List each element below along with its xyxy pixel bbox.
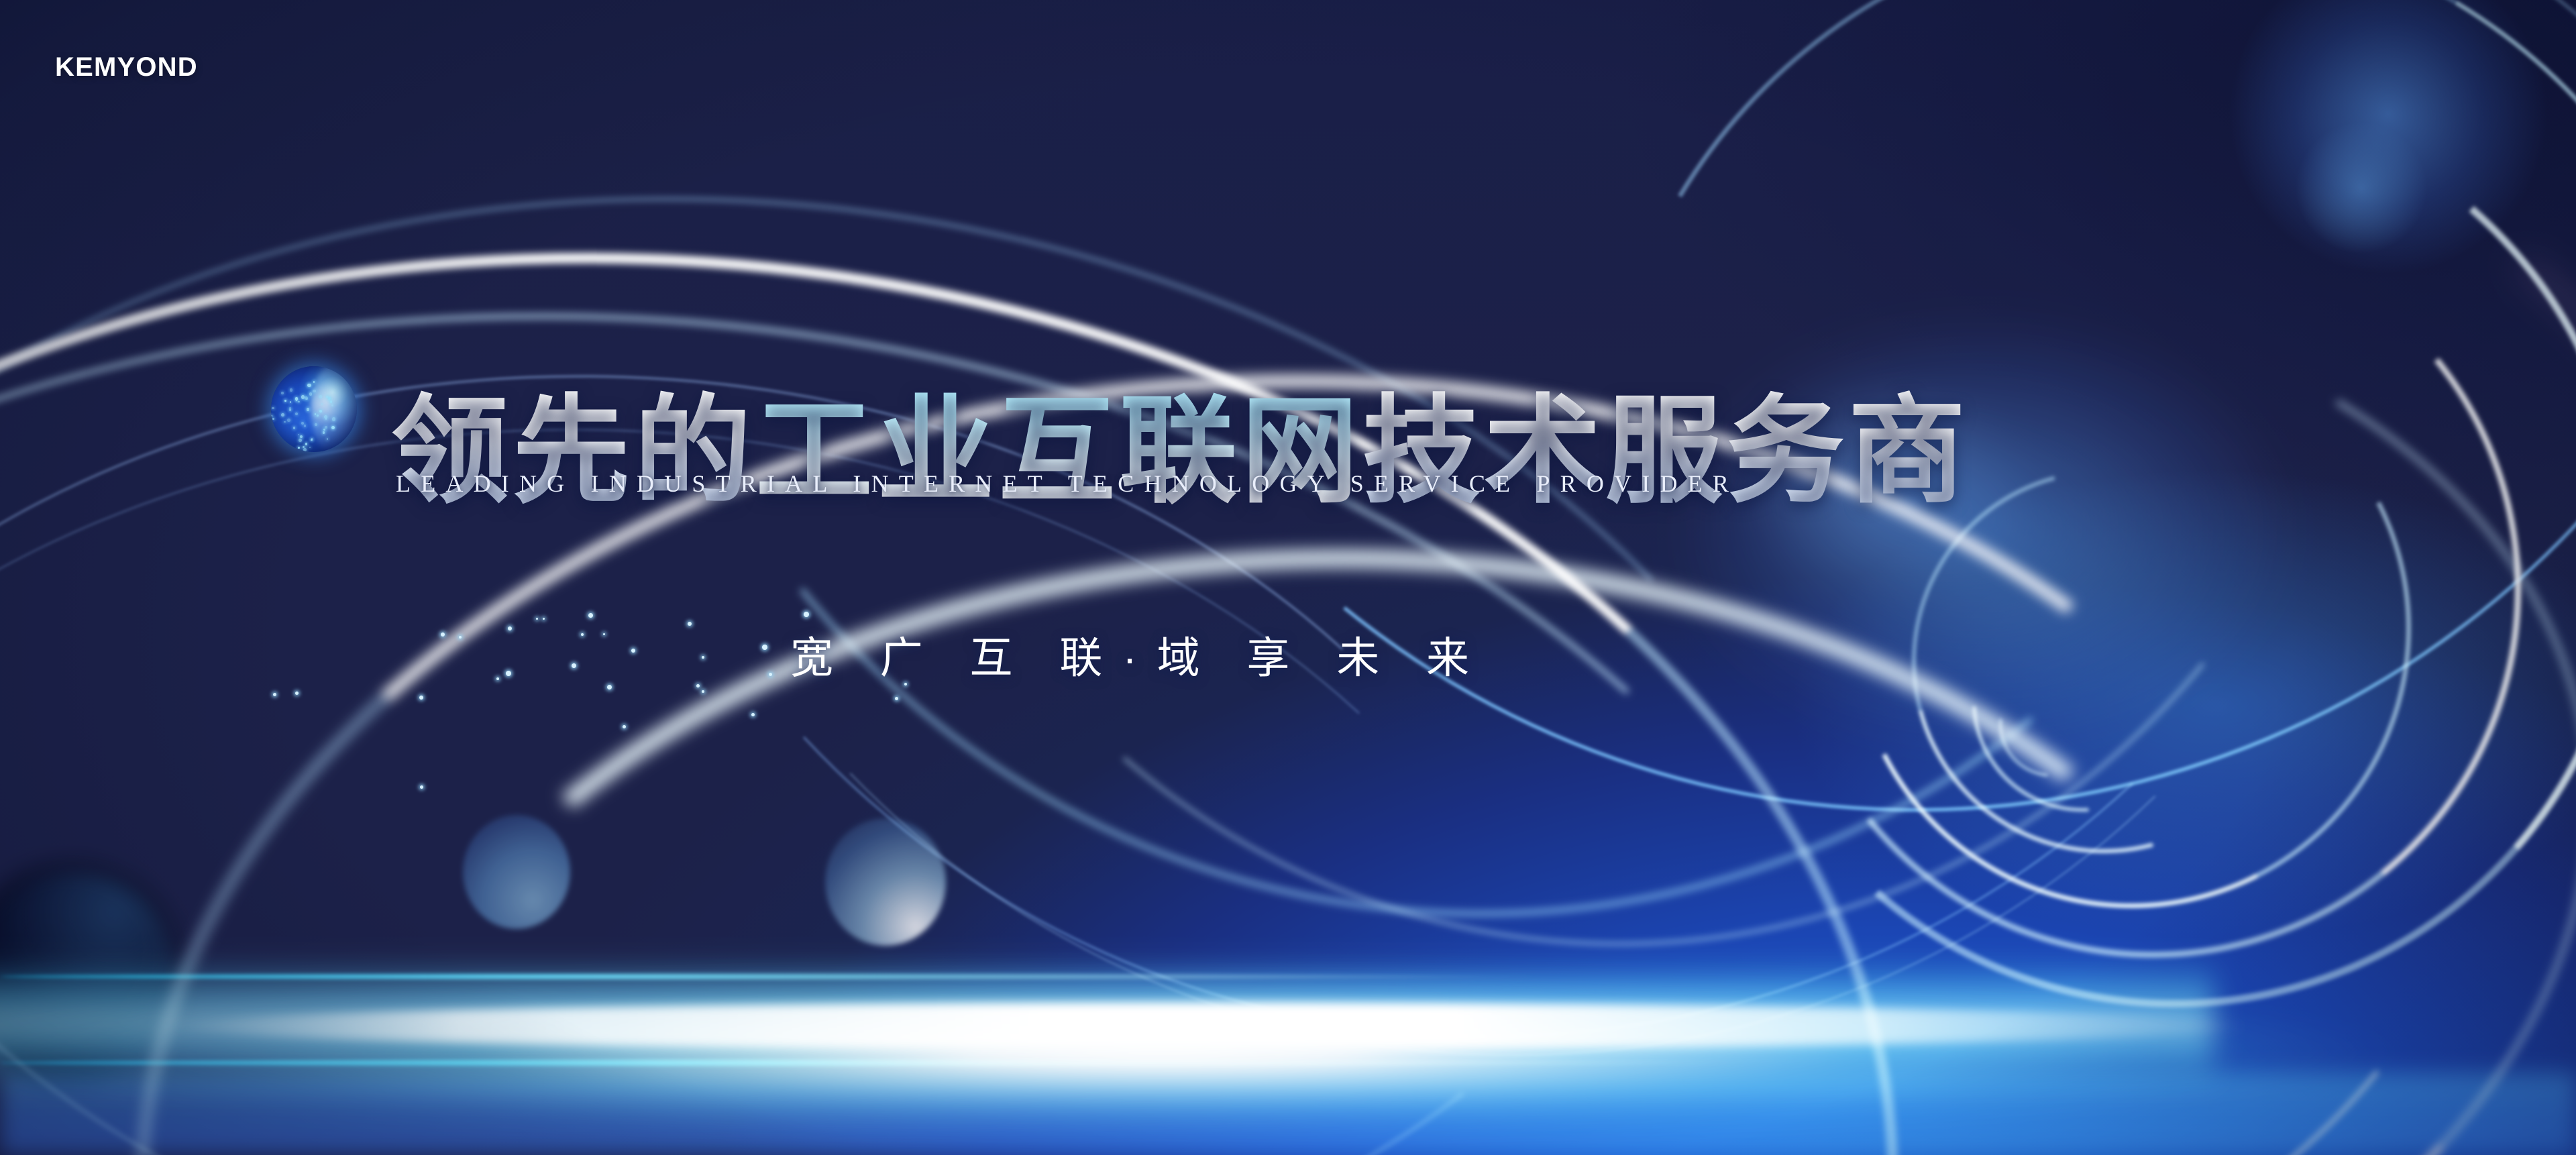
- globe-texture-dot: [309, 392, 312, 395]
- banner-canvas: KEMYOND 领先的工业互联网技术服务商 LEADING INDUSTRIAL…: [0, 0, 2576, 1155]
- globe-texture-dot: [298, 401, 299, 402]
- headline-segment-1: 领先的: [391, 356, 755, 526]
- globe-texture-dot: [289, 409, 291, 411]
- globe-texture-dot: [307, 408, 309, 410]
- globe-texture-dot: [272, 407, 274, 409]
- globe-texture-dot: [287, 419, 290, 422]
- globe-texture-dot: [325, 426, 327, 429]
- globe-texture-dot: [290, 401, 292, 403]
- globe-texture-dot: [281, 392, 284, 394]
- globe-texture-dot: [272, 418, 274, 420]
- globe-texture-dot: [290, 388, 293, 392]
- globe-texture-dot: [298, 447, 300, 449]
- globe-texture-dot: [300, 435, 303, 438]
- globe-texture-dot: [315, 423, 317, 426]
- headline-segment-2: 工业互联网: [755, 356, 1362, 526]
- horizontal-light-beam: [0, 1060, 1744, 1066]
- globe-texture-dot: [305, 443, 308, 445]
- globe-rim: [271, 366, 357, 452]
- globe-texture-dot: [304, 425, 307, 427]
- tagline-right: 域 享 未 来: [1157, 634, 1487, 682]
- tagline-left: 宽 广 互 联: [790, 634, 1120, 682]
- globe-sphere-icon: [271, 366, 357, 452]
- globe-texture-dot: [330, 400, 332, 402]
- globe-texture-dot: [315, 413, 317, 415]
- globe-texture-dot: [303, 448, 307, 451]
- globe-texture-dot: [317, 415, 318, 416]
- subtitle-english: LEADING INDUSTRIAL INTERNET TECHNOLOGY S…: [396, 470, 2207, 498]
- globe-texture-dot: [325, 418, 327, 420]
- horizontal-light-beam: [168, 1003, 2247, 1050]
- brand-logo[interactable]: KEMYOND: [55, 52, 198, 82]
- globe-texture-dot: [319, 410, 322, 412]
- globe-texture-dot: [281, 413, 284, 417]
- tagline-separator: ·: [1120, 634, 1157, 682]
- globe-texture-dot: [331, 426, 335, 429]
- horizontal-light-beam: [0, 974, 1543, 979]
- globe-texture-dot: [321, 403, 323, 404]
- tagline: 宽 广 互 联·域 享 未 来: [790, 624, 1864, 685]
- globe-texture-dot: [313, 390, 315, 392]
- globe-texture-dot: [284, 400, 286, 401]
- globe-texture-dot: [299, 439, 302, 442]
- globe-texture-dot: [307, 384, 311, 387]
- globe-texture-dot: [284, 421, 285, 423]
- globe-texture-dot: [332, 417, 335, 421]
- headline-segment-3: 技术服务商: [1362, 356, 1970, 526]
